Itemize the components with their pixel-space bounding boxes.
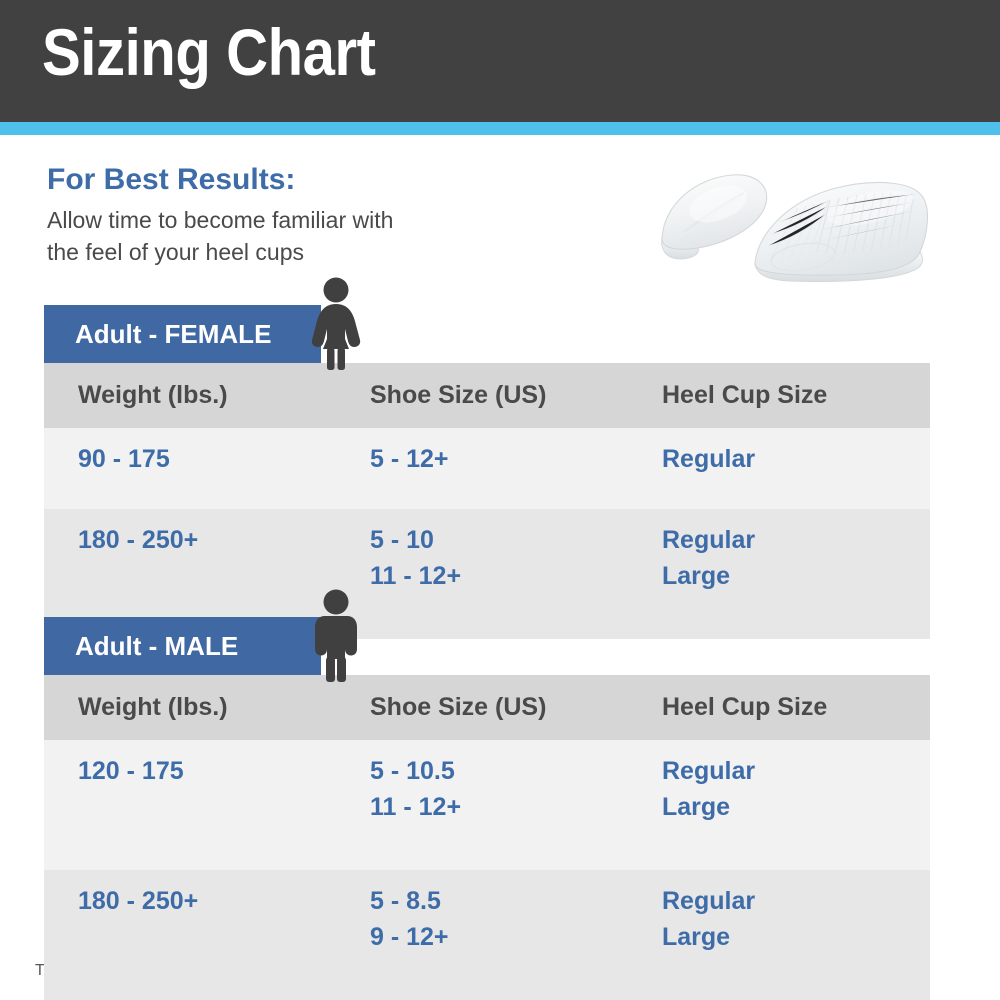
cell-shoe-size-line: 11 - 12+: [370, 790, 628, 826]
section-adult-female: Adult - FEMALE Weight (lbs.) Shoe Size (…: [44, 305, 930, 639]
cell-heel-cup-size-line: Large: [662, 790, 930, 826]
heel-cup-smooth: [662, 175, 767, 259]
table-male: Weight (lbs.) Shoe Size (US) Heel Cup Si…: [44, 675, 930, 1000]
cell-shoe-size: 5 - 10 11 - 12+: [336, 523, 628, 594]
best-results-heading: For Best Results:: [47, 163, 567, 198]
section-tab-female-label: Adult - FEMALE: [44, 319, 271, 350]
accent-divider-bar: [0, 122, 1000, 135]
cell-heel-cup-size-line: Large: [662, 559, 930, 595]
cell-weight: 180 - 250+: [44, 523, 336, 559]
cell-heel-cup-size: Regular Large: [628, 754, 930, 825]
cell-heel-cup-size: Regular Large: [628, 884, 930, 955]
best-results-line-1: Allow time to become familiar with: [47, 204, 567, 237]
cell-shoe-size-line: 5 - 10: [370, 523, 628, 559]
best-results-line-2: the feel of your heel cups: [47, 236, 567, 269]
female-pictogram-icon: [303, 277, 369, 370]
column-header-heel-cup-size: Heel Cup Size: [628, 693, 930, 722]
heel-cups-product-image: [640, 160, 970, 285]
cell-shoe-size-line: 9 - 12+: [370, 920, 628, 956]
cell-heel-cup-size: Regular: [628, 442, 930, 478]
cell-heel-cup-size: Regular Large: [628, 523, 930, 594]
cell-heel-cup-size-line: Large: [662, 920, 930, 956]
cell-heel-cup-size-line: Regular: [662, 884, 930, 920]
section-tab-male-label: Adult - MALE: [44, 631, 238, 662]
section-tab-female: Adult - FEMALE: [44, 305, 321, 363]
cell-shoe-size: 5 - 8.5 9 - 12+: [336, 884, 628, 955]
cell-heel-cup-size-line: Regular: [662, 754, 930, 790]
table-female-header-row: Weight (lbs.) Shoe Size (US) Heel Cup Si…: [44, 363, 930, 428]
cell-weight: 180 - 250+: [44, 884, 336, 920]
cell-weight: 120 - 175: [44, 754, 336, 790]
section-adult-male: Adult - MALE Weight (lbs.) Shoe Size (US…: [44, 617, 930, 1000]
cell-heel-cup-size-line: Regular: [662, 523, 930, 559]
table-row: 180 - 250+ 5 - 8.5 9 - 12+ Regular Large: [44, 870, 930, 1000]
section-tab-male: Adult - MALE: [44, 617, 321, 675]
column-header-heel-cup-size: Heel Cup Size: [628, 381, 930, 410]
table-male-header-row: Weight (lbs.) Shoe Size (US) Heel Cup Si…: [44, 675, 930, 740]
column-header-shoe-size: Shoe Size (US): [336, 693, 628, 722]
cell-shoe-size: 5 - 12+: [336, 442, 628, 478]
cell-shoe-size-line: 5 - 8.5: [370, 884, 628, 920]
page-title: Sizing Chart: [42, 14, 376, 90]
cell-shoe-size-line: 11 - 12+: [370, 559, 628, 595]
cell-shoe-size: 5 - 10.5 11 - 12+: [336, 754, 628, 825]
best-results-block: For Best Results: Allow time to become f…: [47, 163, 567, 269]
cell-shoe-size-line: 5 - 12+: [370, 442, 628, 478]
column-header-shoe-size: Shoe Size (US): [336, 381, 628, 410]
column-header-weight: Weight (lbs.): [44, 693, 336, 722]
table-female: Weight (lbs.) Shoe Size (US) Heel Cup Si…: [44, 363, 930, 639]
cell-weight: 90 - 175: [44, 442, 336, 478]
column-header-weight: Weight (lbs.): [44, 381, 336, 410]
cell-heel-cup-size-line: Regular: [662, 442, 930, 478]
cell-shoe-size-line: 5 - 10.5: [370, 754, 628, 790]
male-pictogram-icon: [303, 589, 369, 682]
heel-cup-textured: [755, 182, 928, 281]
table-row: 90 - 175 5 - 12+ Regular: [44, 428, 930, 509]
table-row: 120 - 175 5 - 10.5 11 - 12+ Regular Larg…: [44, 740, 930, 870]
